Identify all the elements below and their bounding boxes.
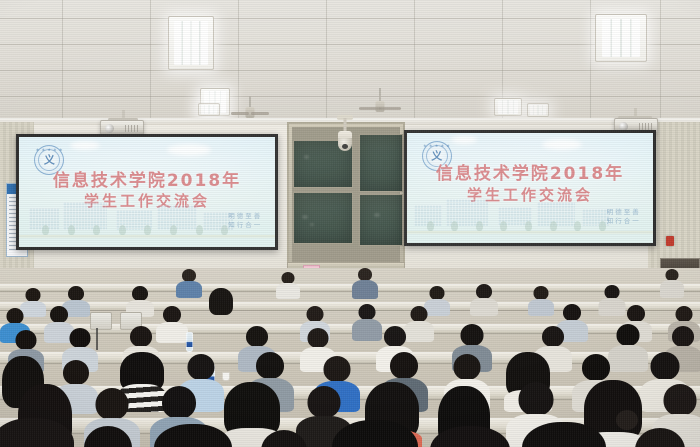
ceiling-panel-light xyxy=(595,14,647,62)
blackboard-panel xyxy=(359,134,403,192)
slide-title: 信息技术学院2018年 xyxy=(19,166,275,191)
person-speaker xyxy=(352,268,378,298)
slide-calligraphy: 明德至善 知行合一 xyxy=(228,212,262,230)
ceiling-panel-light xyxy=(494,98,522,116)
audience-member xyxy=(152,424,234,447)
blackboard-panel xyxy=(359,194,403,246)
audience-member xyxy=(208,288,234,314)
front-desk xyxy=(0,284,700,292)
audience-member xyxy=(126,286,154,314)
ceiling-panel-light xyxy=(168,16,214,70)
audience-member xyxy=(528,286,554,314)
audience-area xyxy=(0,268,700,447)
audience-member xyxy=(0,418,76,447)
ceiling-panel-light xyxy=(198,103,220,116)
audience-member xyxy=(330,420,420,447)
ceiling-panel-light xyxy=(527,103,549,117)
ceiling xyxy=(0,0,700,122)
slide-content-right: ★ ★ ★ ★ ★ 义 信息技术学院2018年 学生工作交流会 明德至善 xyxy=(407,133,653,243)
person-speaker xyxy=(176,269,202,297)
slide-calligraphy: 明德至善 知行合一 xyxy=(607,208,641,226)
calligraphy-line-1: 明德至善 xyxy=(228,212,262,221)
emblem-mark: 义 xyxy=(44,154,55,165)
person-speaker xyxy=(660,269,684,297)
audience-member xyxy=(428,426,512,447)
audience-member xyxy=(68,426,148,447)
slide-title: 信息技术学院2018年 xyxy=(407,159,653,184)
projector-left xyxy=(100,120,144,135)
slide-content-left: ★ ★ ★ ★ ★ 义 信息技术学院2018年 学生工作交流会 明德至善 xyxy=(19,137,275,247)
audience-member xyxy=(244,430,324,447)
calligraphy-line-1: 明德至善 xyxy=(607,208,641,217)
audience-member xyxy=(470,284,498,314)
desk-row xyxy=(0,302,700,311)
right-projection-screen[interactable]: ★ ★ ★ ★ ★ 义 信息技术学院2018年 学生工作交流会 明德至善 xyxy=(404,130,656,246)
audience-member xyxy=(616,428,700,447)
hair-bun xyxy=(616,410,638,430)
ceiling-fan xyxy=(370,88,390,120)
audience-member xyxy=(156,306,188,340)
water-bottle xyxy=(186,332,193,352)
blackboard-panel xyxy=(293,192,353,244)
fire-alarm-point xyxy=(666,236,674,246)
person-speaker xyxy=(276,272,300,298)
calligraphy-line-2: 知行合一 xyxy=(607,217,641,226)
audience-member xyxy=(520,422,608,447)
calligraphy-line-2: 知行合一 xyxy=(228,221,262,230)
lecture-hall-photo: ★ ★ ★ ★ ★ 义 信息技术学院2018年 学生工作交流会 明德至善 xyxy=(0,0,700,447)
left-projection-screen[interactable]: ★ ★ ★ ★ ★ 义 信息技术学院2018年 学生工作交流会 明德至善 xyxy=(16,134,278,250)
